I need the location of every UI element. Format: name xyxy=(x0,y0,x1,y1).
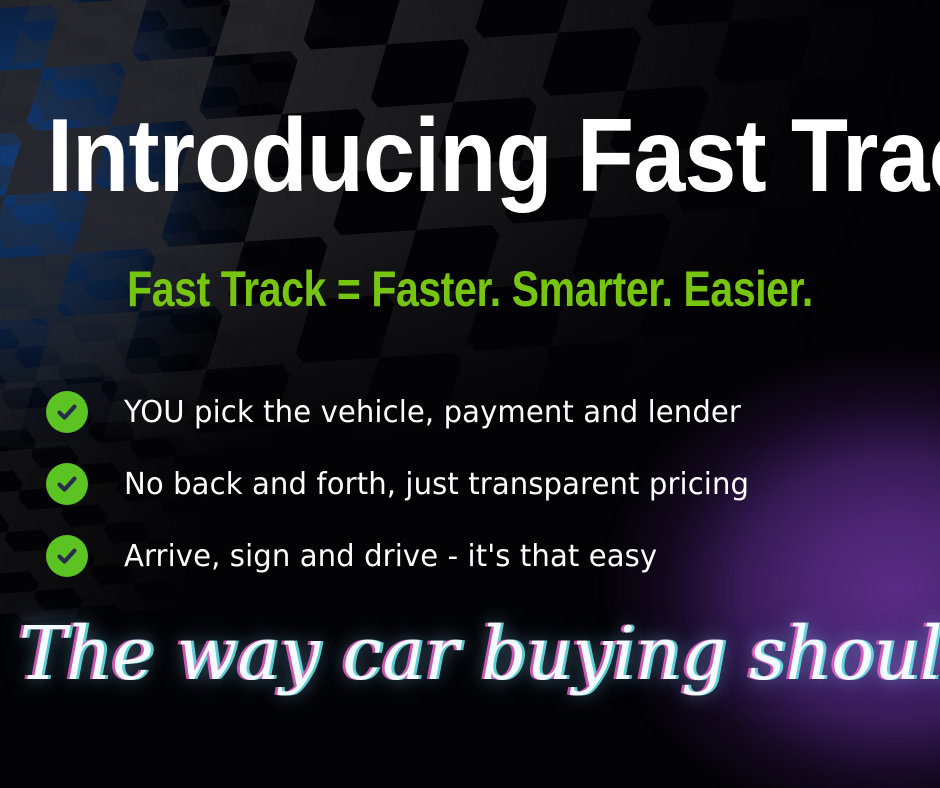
check-circle-icon xyxy=(46,463,88,505)
list-item: Arrive, sign and drive - it's that easy xyxy=(46,520,896,592)
promo-poster: Introducing Fast Track Fast Track = Fast… xyxy=(0,0,940,788)
list-item: No back and forth, just transparent pric… xyxy=(46,448,896,520)
benefits-list: YOU pick the vehicle, payment and lender… xyxy=(46,376,896,592)
list-item-label: No back and forth, just transparent pric… xyxy=(124,467,749,502)
check-circle-icon xyxy=(46,535,88,577)
list-item-label: Arrive, sign and drive - it's that easy xyxy=(124,539,657,574)
page-subtitle: Fast Track = Faster. Smarter. Easier. xyxy=(85,264,856,314)
list-item: YOU pick the vehicle, payment and lender xyxy=(46,376,896,448)
poster-content: Introducing Fast Track Fast Track = Fast… xyxy=(0,0,940,788)
page-title: Introducing Fast Track xyxy=(47,104,893,208)
list-item-label: YOU pick the vehicle, payment and lender xyxy=(124,395,741,430)
check-circle-icon xyxy=(46,391,88,433)
tagline: The way car buying should be. xyxy=(19,612,921,697)
